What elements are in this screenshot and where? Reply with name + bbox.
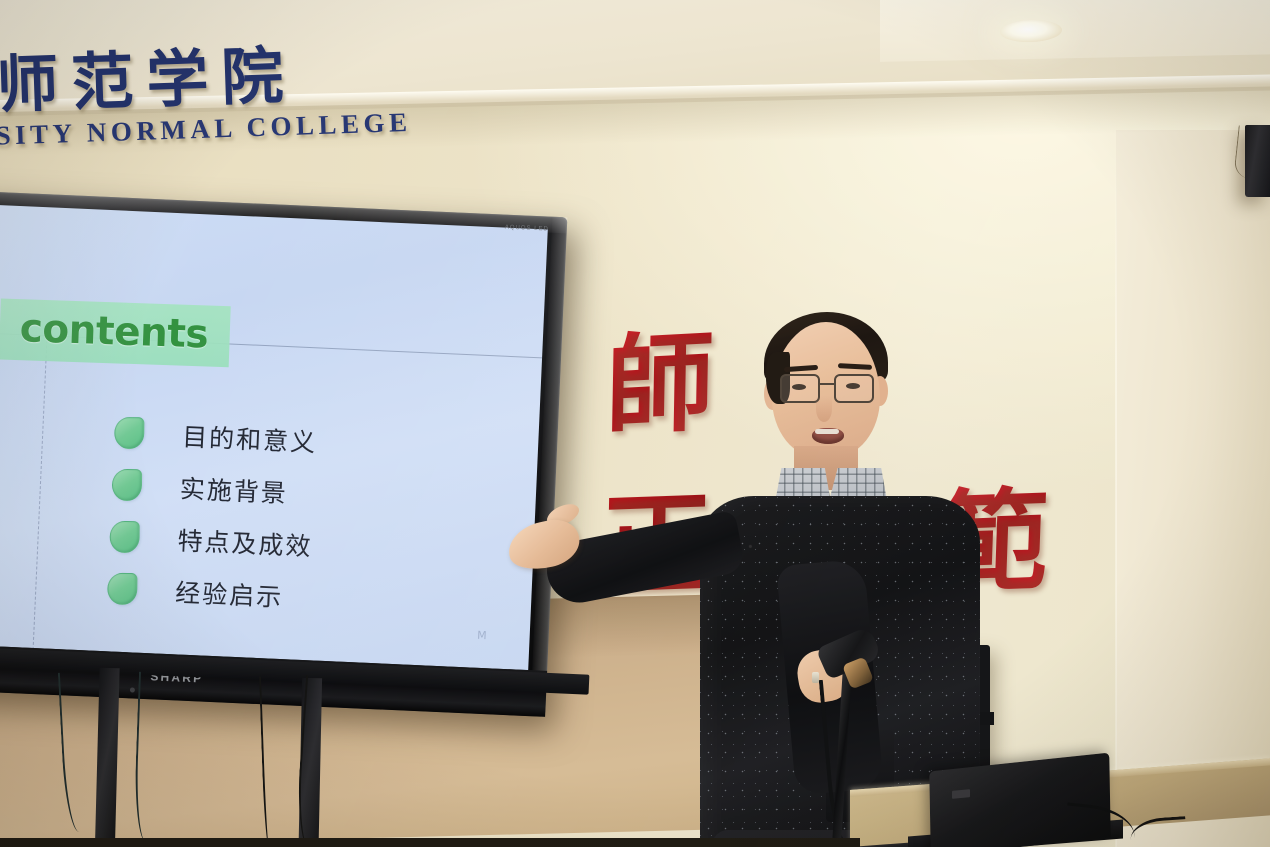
leaf-bullet-icon — [110, 521, 140, 553]
floor — [0, 838, 860, 847]
right-wall — [1116, 130, 1270, 847]
presentation-display[interactable]: contents 目的和意义 实施背景 特点及成效 — [0, 188, 567, 717]
list-item-label: 经验启示 — [175, 573, 285, 614]
slide-contents: contents 目的和意义 实施背景 特点及成效 — [0, 201, 548, 670]
wall-signage-chinese: 学师范学院 — [0, 44, 411, 119]
list-item-label: 实施背景 — [179, 469, 289, 510]
slide-watermark: M — [477, 629, 488, 642]
list-item: 特点及成效 — [109, 510, 314, 571]
list-item-label: 特点及成效 — [177, 521, 313, 563]
list-item: 经验启示 — [106, 562, 311, 623]
slide-bullet-list: 目的和意义 实施背景 特点及成效 经验启示 — [106, 406, 318, 623]
leaf-bullet-icon — [107, 573, 137, 605]
photo-scene: 学师范学院 VERSITY NORMAL COLLEGE 師 正 範 conte… — [0, 0, 1270, 847]
list-item: 实施背景 — [111, 458, 316, 519]
presenter — [540, 300, 1010, 847]
presenter-teeth — [815, 429, 839, 434]
ceiling-soffit — [880, 0, 1270, 62]
list-item: 目的和意义 — [113, 406, 318, 467]
laptop-logo — [952, 789, 970, 799]
leaf-bullet-icon — [112, 469, 142, 501]
slide-title-chip: contents — [0, 298, 231, 367]
glasses-lens-right — [834, 374, 874, 403]
wall-signage: 学师范学院 VERSITY NORMAL COLLEGE — [0, 44, 412, 154]
display-screen[interactable]: contents 目的和意义 实施背景 特点及成效 — [0, 201, 548, 670]
wall-speaker — [1245, 125, 1270, 197]
leaf-bullet-icon — [114, 417, 144, 449]
wall-corner — [1115, 150, 1117, 847]
presenter-nose — [816, 396, 832, 422]
glasses-lens-left — [780, 374, 820, 403]
list-item-label: 目的和意义 — [181, 417, 317, 459]
slide-title: contents — [19, 306, 209, 357]
display-power-led — [130, 687, 135, 692]
slide-divider-vertical — [32, 335, 48, 665]
